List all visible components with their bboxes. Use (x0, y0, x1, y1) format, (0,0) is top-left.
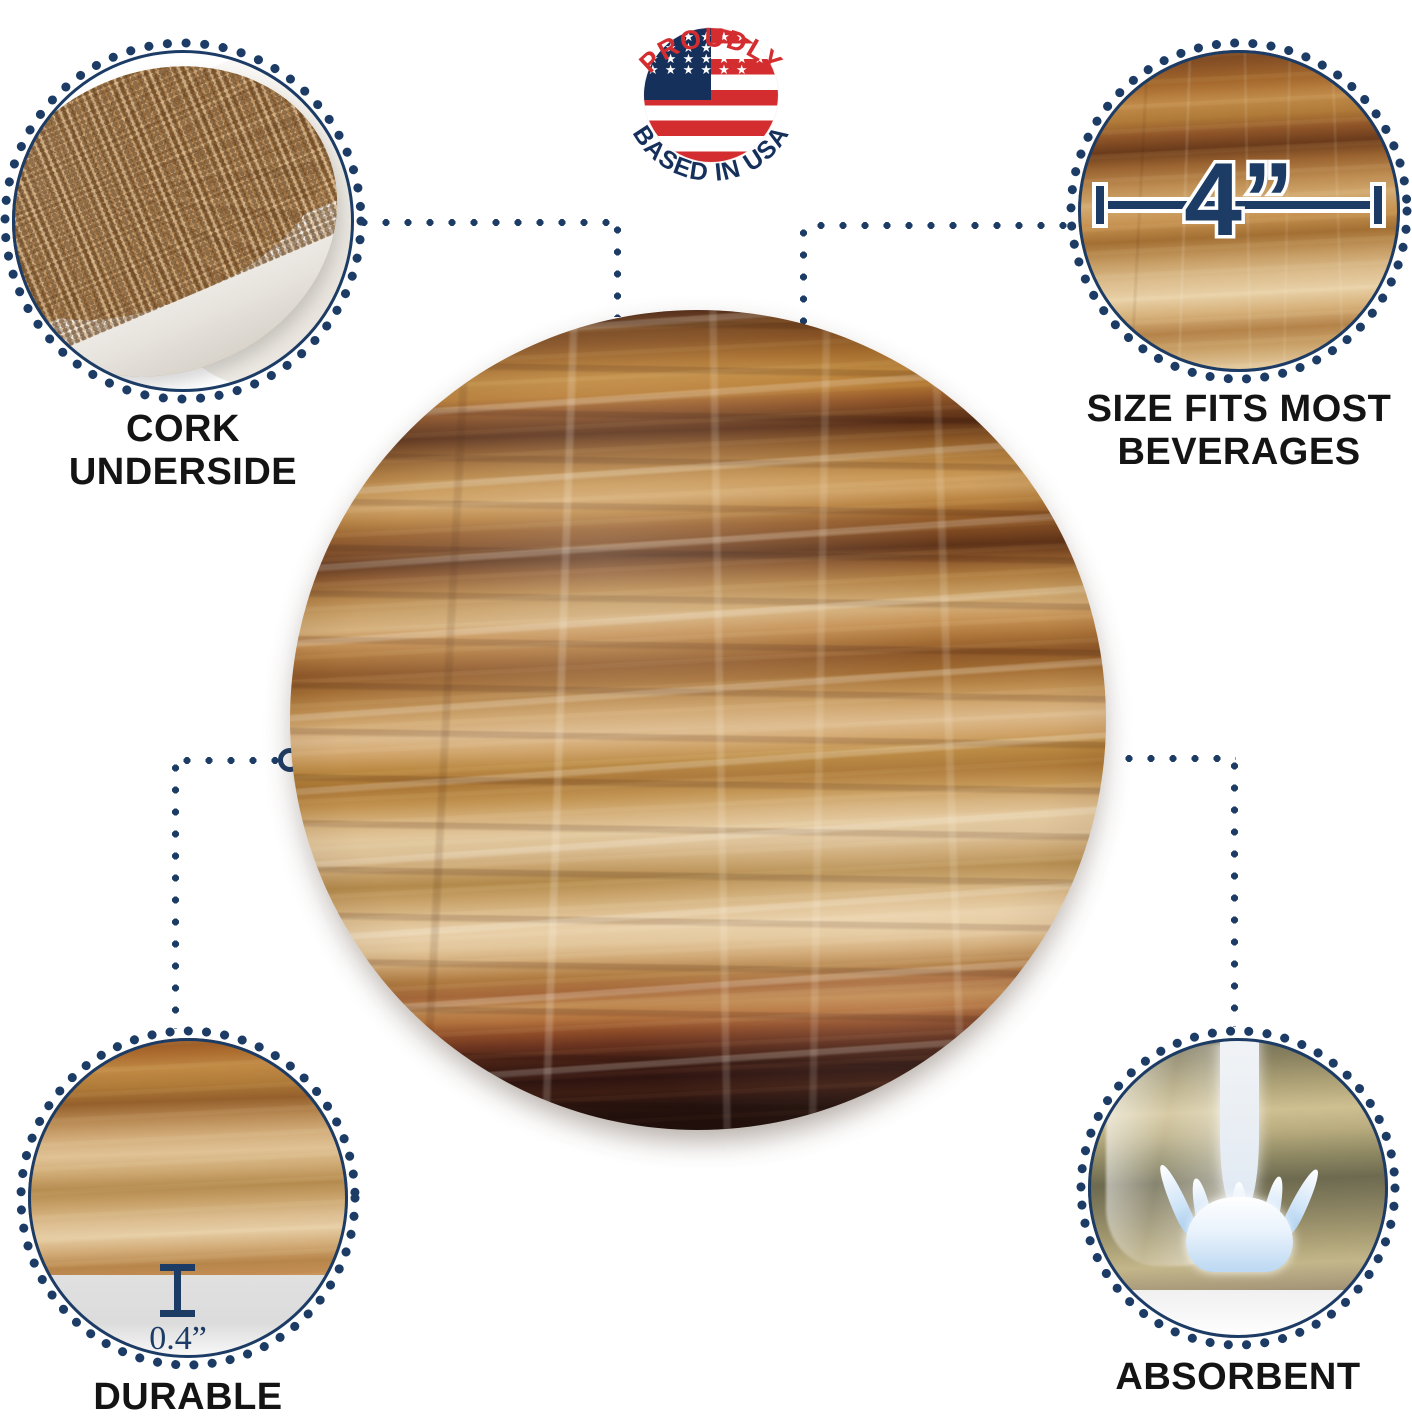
callout-ring (1088, 1038, 1388, 1338)
badge-bottom-text: BASED IN USA (627, 121, 795, 187)
infographic-canvas: ★ ★ ★ ★ ★ ★ ★ ★ ★ ★ ★ ★ ★ ★ ★ ★ ★ ★ ★ ★ … (0, 0, 1412, 1422)
callout-absorbent[interactable]: ABSORBENT (1088, 1038, 1388, 1338)
main-product-image (290, 310, 1106, 1130)
dimension-value-thickness: 0.4” (116, 1320, 240, 1358)
dimension-value-width: 4” (1078, 148, 1400, 252)
badge-top-text: PROUDLY (634, 22, 789, 78)
svg-text:PROUDLY: PROUDLY (634, 22, 789, 78)
usa-badge: ★ ★ ★ ★ ★ ★ ★ ★ ★ ★ ★ ★ ★ ★ ★ ★ ★ ★ ★ ★ … (608, 2, 814, 214)
badge-arc-text: PROUDLY BASED IN USA (608, 2, 814, 214)
callout-label-cork-underside: CORK UNDERSIDE (0, 408, 376, 493)
callout-label-size-fits-most: SIZE FITS MOST BEVERAGES (1044, 388, 1412, 473)
callout-size-fits-most[interactable]: 4” SIZE FITS MOST BEVERAGES (1078, 50, 1400, 372)
stone-coaster-disc (290, 310, 1106, 1130)
callout-label-durable: DURABLE (0, 1376, 388, 1419)
callout-ring (12, 50, 354, 392)
svg-text:BASED IN USA: BASED IN USA (627, 121, 795, 187)
callout-label-absorbent: ABSORBENT (1048, 1356, 1412, 1399)
callout-cork-underside[interactable]: CORK UNDERSIDE (12, 50, 354, 392)
callout-durable[interactable]: 0.4” DURABLE (28, 1038, 348, 1358)
